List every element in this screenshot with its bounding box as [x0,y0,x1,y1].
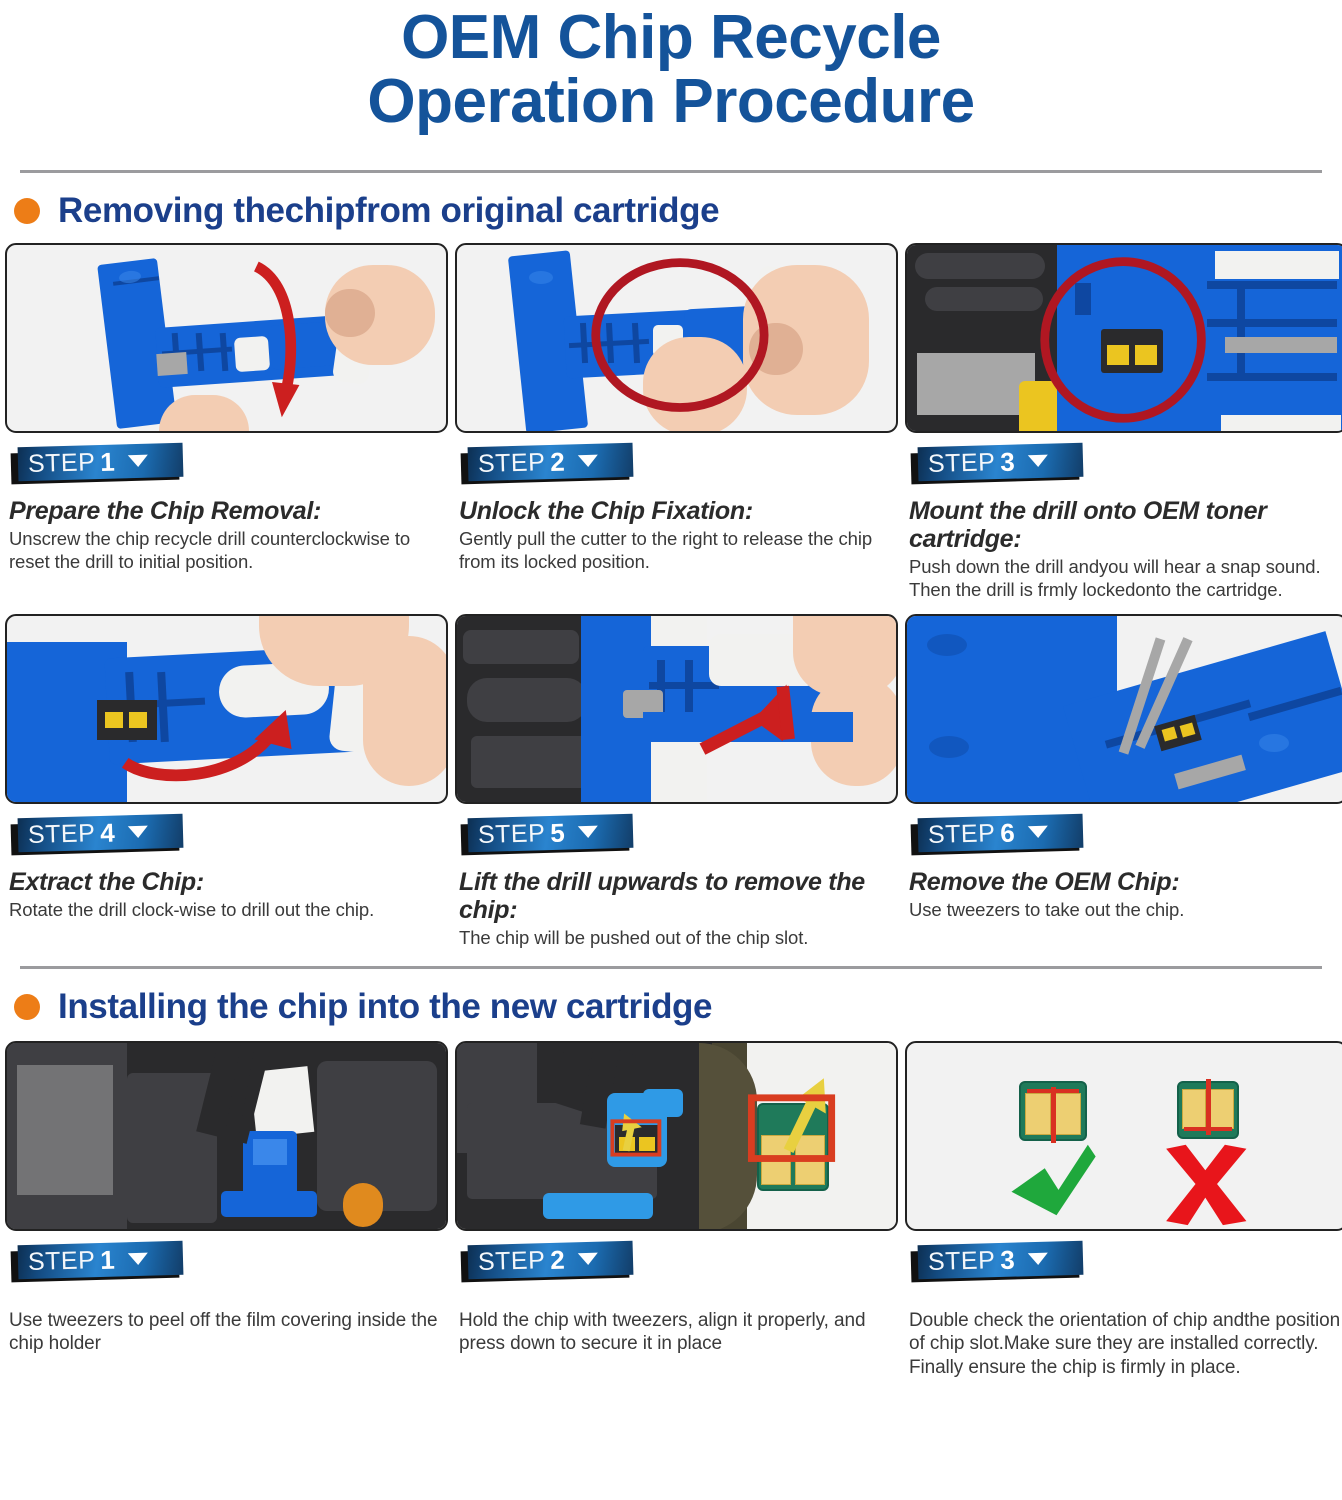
page-title-line-2: Operation Procedure [0,70,1342,134]
cross-icon [1166,1144,1246,1224]
step-caption-1: Prepare the Chip Removal: Unscrew the ch… [5,489,448,574]
step-caption-6: Remove the OEM Chip: Use tweezers to tak… [905,860,1342,922]
steps-grid-row-3: STEP 1 Use tweezers to peel off the film… [0,1041,1342,1380]
chevron-down-icon [1028,1252,1048,1265]
badge-body: STEP 5 [468,813,634,852]
step-body: Hold the chip with tweezers, align it pr… [459,1309,894,1356]
badge-number: 5 [550,819,565,845]
step-caption-5: Lift the drill upwards to remove the chi… [455,860,898,950]
step-title: Lift the drill upwards to remove the chi… [459,868,894,924]
install-step-card-3: STEP 3 Double check the orientation of c… [905,1041,1342,1380]
red-arrow-icon [7,245,446,431]
red-circle-highlight-icon [457,245,896,431]
badge-label: STEP [28,449,96,476]
badge-label: STEP [928,1247,996,1274]
step-card-5: STEP 5 Lift the drill upwards to remove … [455,614,898,950]
step-card-3: STEP 3 Mount the drill onto OEM toner ca… [905,243,1342,602]
page-title-line-1: OEM Chip Recycle [0,6,1342,70]
step-title: Extract the Chip: [9,868,444,896]
step-badge-1: STEP 1 [11,443,186,489]
photo-align-chip [455,1041,898,1231]
orange-dot-icon [14,994,40,1020]
steps-grid-row-1: STEP 1 Prepare the Chip Removal: Unscrew… [0,243,1342,602]
page-title: OEM Chip Recycle Operation Procedure [0,0,1342,134]
badge-number: 6 [1000,819,1015,845]
badge-number: 2 [550,1246,565,1272]
chevron-down-icon [1028,454,1048,467]
chevron-down-icon [578,454,598,467]
section-title-removing: Removing thechipfrom original cartridge [58,191,719,231]
badge-body: STEP 1 [18,1240,184,1279]
chevron-down-icon [578,1252,598,1265]
photo-unlock-cutter [455,243,898,433]
step-title: Remove the OEM Chip: [909,868,1342,896]
yellow-arrow-icon [457,1043,896,1229]
badge-body: STEP 4 [18,813,184,852]
section-header-removing: Removing thechipfrom original cartridge [0,173,1342,243]
badge-label: STEP [928,449,996,476]
step-caption-2: Unlock the Chip Fixation: Gently pull th… [455,489,898,574]
step-card-2: STEP 2 Unlock the Chip Fixation: Gently … [455,243,898,602]
step-body: Use tweezers to take out the chip. [909,899,1342,922]
step-body: The chip will be pushed out of the chip … [459,927,894,950]
badge-label: STEP [28,820,96,847]
photo-remove-chip-tweezers [905,614,1342,804]
badge-body: STEP 6 [918,813,1084,852]
install-step-caption-1: Use tweezers to peel off the film coveri… [5,1287,448,1356]
photo-drill-unscrew [5,243,448,433]
badge-number: 1 [100,1246,115,1272]
badge-body: STEP 1 [18,442,184,481]
badge-body: STEP 3 [918,1240,1084,1279]
step-card-6: STEP 6 Remove the OEM Chip: Use tweezers… [905,614,1342,950]
chevron-down-icon [128,825,148,838]
step-body: Push down the drill andyou will hear a s… [909,556,1342,602]
check-icon [1011,1144,1095,1214]
red-arrow-icon [457,616,896,802]
badge-body: STEP 2 [468,442,634,481]
badge-number: 2 [550,448,565,474]
step-badge-5: STEP 5 [461,814,636,860]
step-body: Gently pull the cutter to the right to r… [459,528,894,574]
section-title-installing: Installing the chip into the new cartrid… [58,987,712,1027]
step-caption-4: Extract the Chip: Rotate the drill clock… [5,860,448,922]
step-body: Double check the orientation of chip and… [909,1309,1342,1380]
chevron-down-icon [128,1252,148,1265]
steps-grid-row-2: STEP 4 Extract the Chip: Rotate the dril… [0,614,1342,950]
install-step-card-2: STEP 2 Hold the chip with tweezers, alig… [455,1041,898,1380]
badge-number: 3 [1000,1246,1015,1272]
step-title: Unlock the Chip Fixation: [459,497,894,525]
photo-orientation-check [905,1041,1342,1231]
orange-dot-icon [14,198,40,224]
install-step-badge-1: STEP 1 [11,1241,186,1287]
step-badge-6: STEP 6 [911,814,1086,860]
step-body: Use tweezers to peel off the film coveri… [9,1309,444,1356]
red-arrow-icon [7,616,446,802]
install-step-badge-2: STEP 2 [461,1241,636,1287]
badge-label: STEP [928,820,996,847]
badge-number: 1 [100,448,115,474]
photo-mount-drill [905,243,1342,433]
photo-peel-film [5,1041,448,1231]
badge-label: STEP [478,820,546,847]
badge-body: STEP 3 [918,442,1084,481]
photo-extract-chip [5,614,448,804]
badge-label: STEP [28,1247,96,1274]
chevron-down-icon [578,825,598,838]
photo-lift-drill [455,614,898,804]
install-step-card-1: STEP 1 Use tweezers to peel off the film… [5,1041,448,1380]
badge-number: 3 [1000,448,1015,474]
badge-body: STEP 2 [468,1240,634,1279]
red-circle-highlight-icon [907,245,1342,431]
step-card-1: STEP 1 Prepare the Chip Removal: Unscrew… [5,243,448,602]
step-title: Prepare the Chip Removal: [9,497,444,525]
badge-label: STEP [478,1247,546,1274]
step-title: Mount the drill onto OEM toner cartridge… [909,497,1342,553]
chevron-down-icon [1028,825,1048,838]
verdict-marks [907,1043,1342,1229]
install-step-caption-2: Hold the chip with tweezers, align it pr… [455,1287,898,1356]
install-step-badge-3: STEP 3 [911,1241,1086,1287]
step-body: Unscrew the chip recycle drill countercl… [9,528,444,574]
install-step-caption-3: Double check the orientation of chip and… [905,1287,1342,1380]
badge-label: STEP [478,449,546,476]
step-card-4: STEP 4 Extract the Chip: Rotate the dril… [5,614,448,950]
badge-number: 4 [100,819,115,845]
step-badge-4: STEP 4 [11,814,186,860]
step-caption-3: Mount the drill onto OEM toner cartridge… [905,489,1342,602]
step-badge-2: STEP 2 [461,443,636,489]
step-badge-3: STEP 3 [911,443,1086,489]
chevron-down-icon [128,454,148,467]
step-body: Rotate the drill clock-wise to drill out… [9,899,444,922]
section-header-installing: Installing the chip into the new cartrid… [0,969,1342,1039]
